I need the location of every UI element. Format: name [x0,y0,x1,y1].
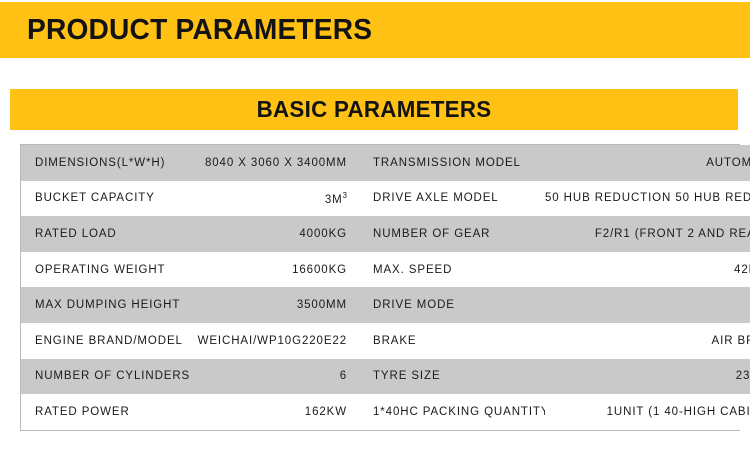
specification-table-grid: DIMENSIONS(L*W*H)8040 X 3060 X 3400MMTRA… [21,145,750,430]
parameter-value-left: 3M3 [195,181,355,217]
product-parameters-page: PRODUCT PARAMETERS BASIC PARAMETERS DIME… [0,0,750,468]
specification-table: DIMENSIONS(L*W*H)8040 X 3060 X 3400MMTRA… [20,144,740,431]
parameter-value-right: 1UNIT (1 40-HIGH CABINET) [545,394,750,430]
parameter-label-left: NUMBER OF CYLINDERS [21,359,195,395]
parameter-value-right: AUTOMATIC [545,145,750,181]
parameter-label-right: DRIVE MODE [355,287,545,323]
parameter-label-right: TYRE SIZE [355,359,545,395]
parameter-label-right: MAX. SPEED [355,252,545,288]
parameter-value-left: 162KW [195,394,355,430]
section-title: BASIC PARAMETERS [257,96,492,123]
parameter-label-left: RATED POWER [21,394,195,430]
parameter-label-right: NUMBER OF GEAR [355,216,545,252]
parameter-value-left: 6 [195,359,355,395]
page-title: PRODUCT PARAMETERS [27,14,372,47]
table-row: BUCKET CAPACITY3M3DRIVE AXLE MODEL50 HUB… [21,181,750,217]
section-banner: BASIC PARAMETERS [10,89,738,130]
table-row: RATED LOAD4000KGNUMBER OF GEARF2/R1 (FRO… [21,216,750,252]
table-row: NUMBER OF CYLINDERS6TYRE SIZE23.5-25 [21,359,750,395]
parameter-value-left: 4000KG [195,216,355,252]
table-row: RATED POWER162KW1*40HC PACKING QUANTITY1… [21,394,750,430]
parameter-value-right: 4WD [545,287,750,323]
parameter-label-right: 1*40HC PACKING QUANTITY [355,394,545,430]
parameter-value-left: 3500MM [195,287,355,323]
page-header-banner: PRODUCT PARAMETERS [0,2,750,58]
parameter-label-left: BUCKET CAPACITY [21,181,195,217]
parameter-value-left: WEICHAI/WP10G220E22 [195,323,355,359]
parameter-value-right: 42KM/H [545,252,750,288]
table-row: OPERATING WEIGHT16600KGMAX. SPEED42KM/H [21,252,750,288]
parameter-value-right: 23.5-25 [545,359,750,395]
parameter-label-right: DRIVE AXLE MODEL [355,181,545,217]
parameter-value-right: AIR BRAKE [545,323,750,359]
parameter-label-left: OPERATING WEIGHT [21,252,195,288]
parameter-value-left: 8040 X 3060 X 3400MM [195,145,355,181]
table-row: DIMENSIONS(L*W*H)8040 X 3060 X 3400MMTRA… [21,145,750,181]
parameter-label-left: DIMENSIONS(L*W*H) [21,145,195,181]
parameter-label-left: ENGINE BRAND/MODEL [21,323,195,359]
table-row: ENGINE BRAND/MODELWEICHAI/WP10G220E22BRA… [21,323,750,359]
table-row: MAX DUMPING HEIGHT3500MMDRIVE MODE4WD [21,287,750,323]
parameter-label-left: RATED LOAD [21,216,195,252]
parameter-label-right: TRANSMISSION MODEL [355,145,545,181]
parameter-value-right: 50 HUB REDUCTION 50 HUB REDUCTION [545,181,750,217]
parameter-value-right: F2/R1 (FRONT 2 AND REAR 1) [545,216,750,252]
parameter-label-right: BRAKE [355,323,545,359]
parameter-value-left: 16600KG [195,252,355,288]
parameter-label-left: MAX DUMPING HEIGHT [21,287,195,323]
